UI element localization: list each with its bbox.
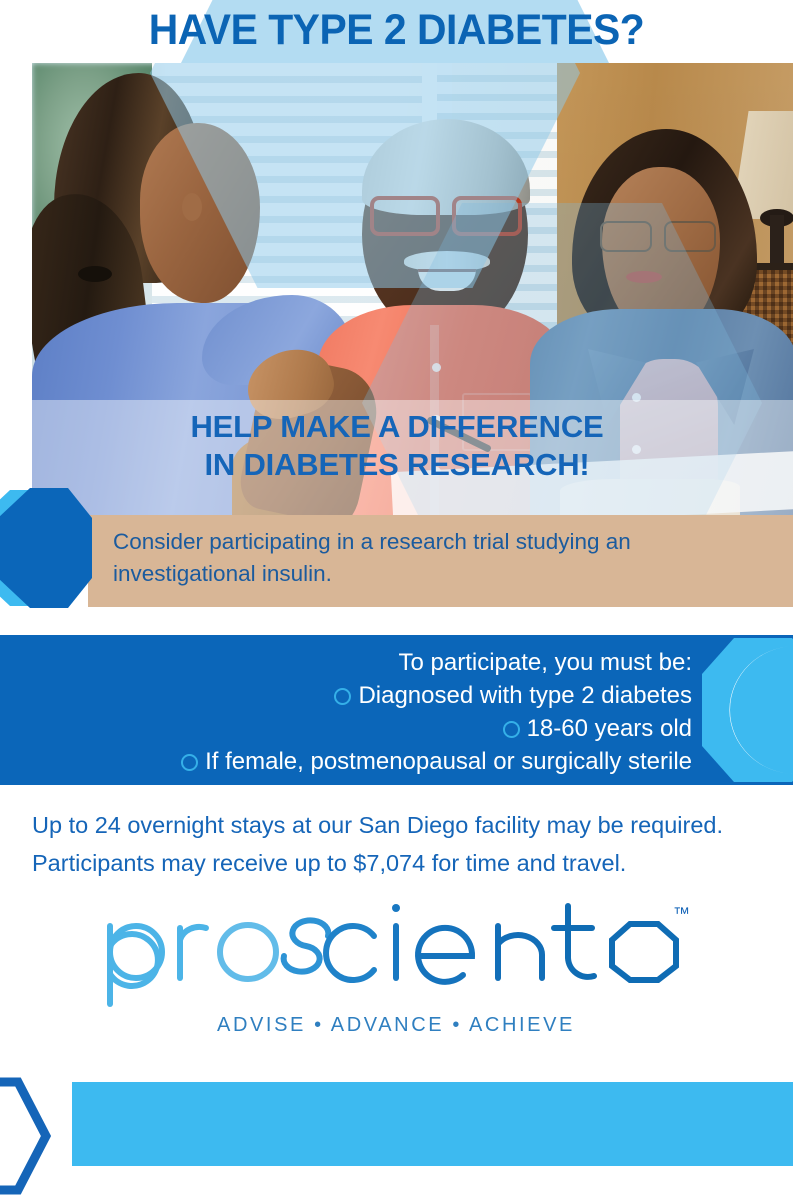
bullet-circle-icon bbox=[503, 721, 520, 738]
eligibility-item-2: 18-60 years old bbox=[60, 712, 692, 745]
eligibility-item-3: If female, postmenopausal or surgically … bbox=[60, 745, 692, 778]
footer-bar bbox=[72, 1082, 793, 1166]
hero-photo: HELP MAKE A DIFFERENCE IN DIABETES RESEA… bbox=[32, 63, 793, 515]
nurse-hair-tie bbox=[78, 266, 112, 282]
woman-eyeglasses-icon bbox=[598, 221, 720, 249]
prosciento-logo: ™ bbox=[96, 900, 696, 1008]
page-title: HAVE TYPE 2 DIABETES? bbox=[20, 8, 773, 53]
logo-tagline: ADVISE • ADVANCE • ACHIEVE bbox=[96, 1014, 696, 1037]
tan-callout-text: Consider participating in a research tri… bbox=[113, 526, 773, 590]
hexagon-outline-footer-icon bbox=[0, 1076, 62, 1196]
bullet-circle-icon bbox=[334, 688, 351, 705]
compensation-line-1: Up to 24 overnight stays at our San Dieg… bbox=[32, 806, 772, 844]
woman-lips bbox=[626, 271, 662, 283]
eligibility-list: To participate, you must be: Diagnosed w… bbox=[60, 646, 692, 778]
subhead: HELP MAKE A DIFFERENCE IN DIABETES RESEA… bbox=[32, 408, 762, 484]
hexagon-badge-right-icon bbox=[700, 634, 793, 786]
man-eyeglasses-icon bbox=[366, 196, 524, 230]
shirt-button bbox=[432, 363, 441, 372]
man-mustache bbox=[404, 251, 490, 271]
nurse-ear bbox=[182, 193, 202, 221]
compensation-text: Up to 24 overnight stays at our San Dieg… bbox=[32, 806, 772, 882]
bullet-circle-icon bbox=[181, 754, 198, 771]
eligibility-heading: To participate, you must be: bbox=[60, 646, 692, 679]
lamp-neck bbox=[770, 215, 784, 269]
eligibility-item-1: Diagnosed with type 2 diabetes bbox=[60, 679, 692, 712]
hexagon-badge-left-icon bbox=[0, 484, 96, 612]
compensation-line-2: Participants may receive up to $7,074 fo… bbox=[32, 844, 772, 882]
trademark-symbol: ™ bbox=[673, 904, 690, 924]
flyer-root: HAVE TYPE 2 DIABETES? bbox=[0, 0, 793, 1199]
